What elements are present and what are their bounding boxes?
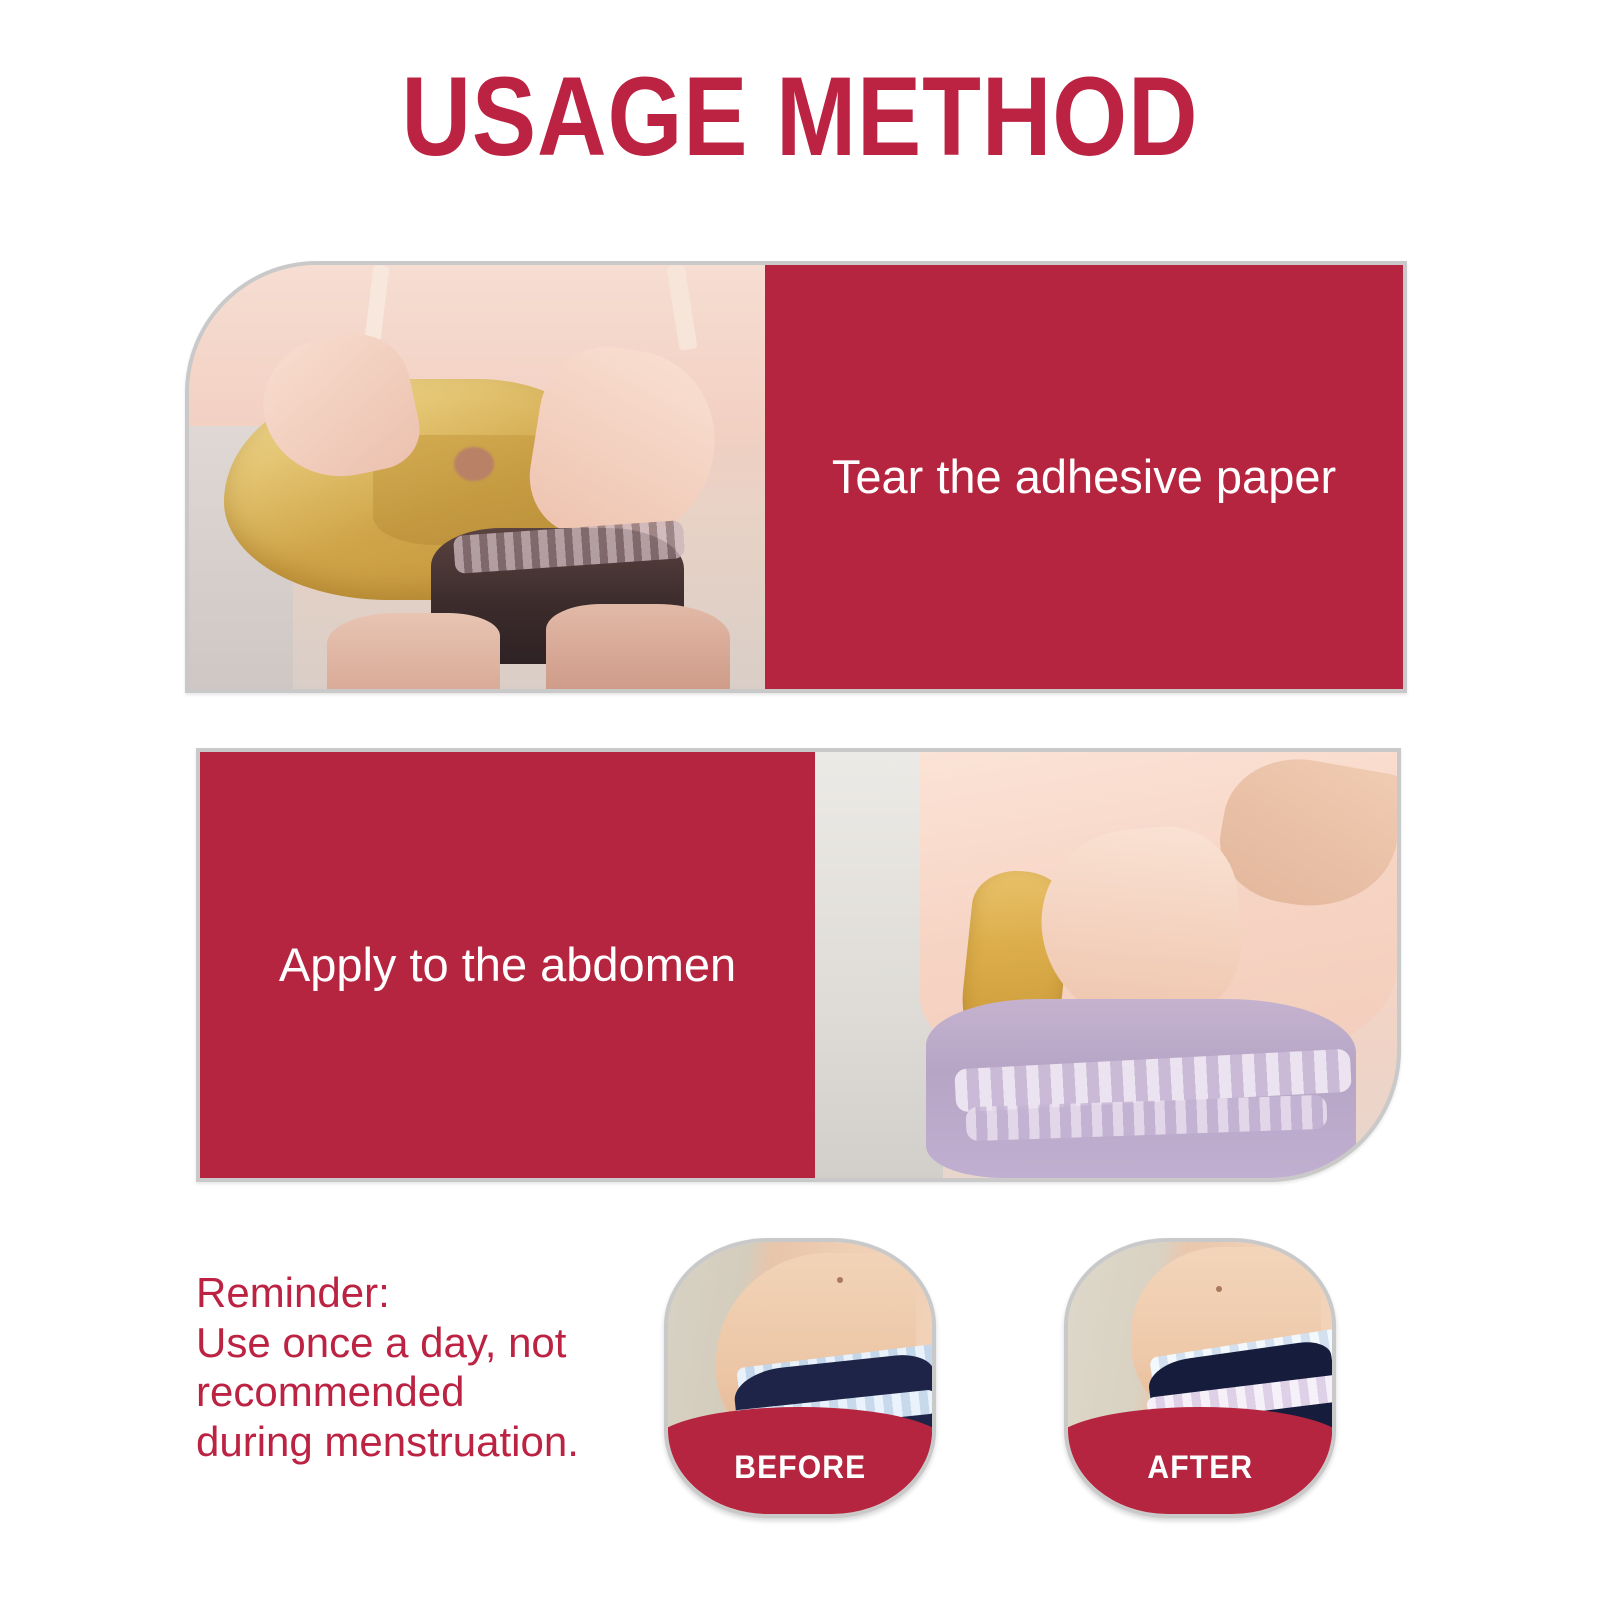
step-panel-2: Apply to the abdomen	[196, 748, 1401, 1182]
step-1-photo	[189, 265, 765, 689]
step-panel-1: Tear the adhesive paper	[185, 261, 1407, 693]
step-2-caption: Apply to the abdomen	[200, 752, 815, 1178]
after-label: AFTER	[1147, 1449, 1253, 1486]
comparison-card-before: BEFORE	[664, 1238, 936, 1518]
comparison-card-after: AFTER	[1064, 1238, 1336, 1518]
before-banner: BEFORE	[668, 1407, 932, 1514]
before-label: BEFORE	[734, 1449, 866, 1486]
after-banner: AFTER	[1068, 1407, 1332, 1514]
comparison-card-before-inner: BEFORE	[668, 1242, 932, 1514]
step-panel-1-inner: Tear the adhesive paper	[189, 265, 1403, 689]
step-1-caption: Tear the adhesive paper	[765, 265, 1403, 689]
page-title: USAGE METHOD	[112, 58, 1488, 176]
reminder-text: Reminder: Use once a day, not recommende…	[196, 1268, 666, 1466]
step-2-photo	[815, 752, 1397, 1178]
step-panel-2-inner: Apply to the abdomen	[200, 752, 1397, 1178]
tear-adhesive-photo-illustration	[189, 265, 765, 689]
comparison-card-after-inner: AFTER	[1068, 1242, 1332, 1514]
apply-abdomen-photo-illustration	[815, 752, 1397, 1178]
